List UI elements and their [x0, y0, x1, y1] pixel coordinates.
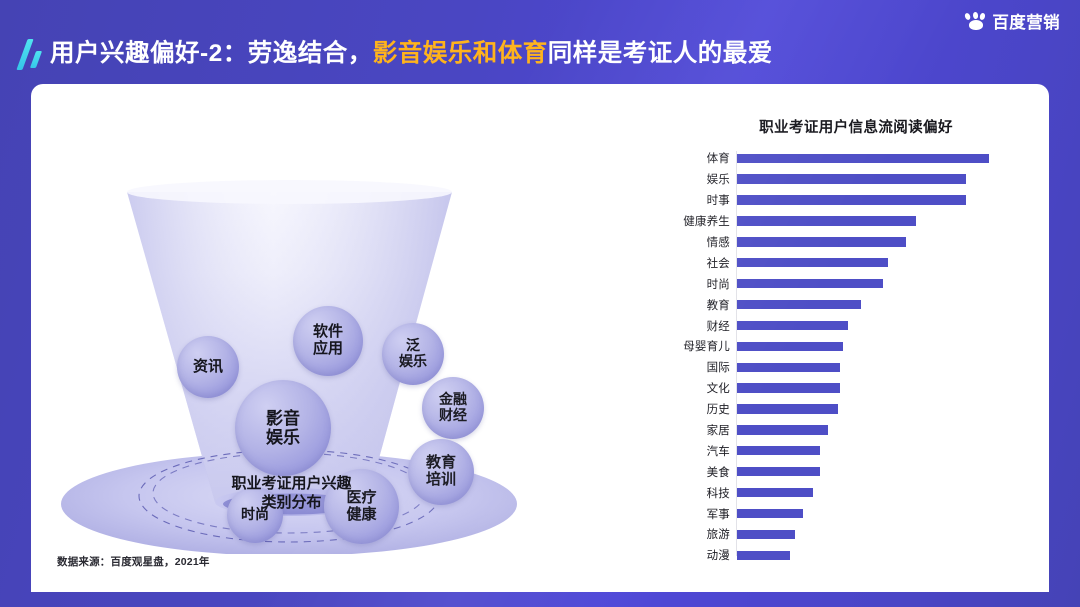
- interest-bubble: 金融 财经: [422, 377, 484, 439]
- bar-row: 时事: [631, 190, 1041, 211]
- bar-row: 情感: [631, 232, 1041, 253]
- bar: [737, 237, 906, 246]
- bar-row: 时尚: [631, 273, 1041, 294]
- bar-category-label: 财经: [631, 318, 730, 334]
- bar-row: 财经: [631, 315, 1041, 336]
- interest-bubble: 影音 娱乐: [235, 380, 331, 476]
- bar-category-label: 时尚: [631, 276, 730, 292]
- bar-track: [737, 440, 1041, 461]
- bar-track: [737, 524, 1041, 545]
- source-note: 数据来源：百度观星盘，2021年: [57, 554, 210, 569]
- bar: [737, 174, 966, 183]
- bar-category-label: 体育: [631, 150, 730, 166]
- bar: [737, 488, 813, 497]
- page-title-highlight: 影音娱乐和体育: [373, 40, 548, 67]
- bar-category-label: 历史: [631, 401, 730, 417]
- bar-row: 文化: [631, 378, 1041, 399]
- bar-category-label: 军事: [631, 506, 730, 522]
- bar-category-label: 时事: [631, 192, 730, 208]
- bar: [737, 551, 790, 560]
- page-title-part-1: 用户兴趣偏好-2：劳逸结合，: [50, 40, 373, 67]
- bar: [737, 195, 966, 204]
- bar-category-label: 汽车: [631, 443, 730, 459]
- bar: [737, 509, 803, 518]
- double-slash-accent-icon: [12, 37, 50, 71]
- slide-canvas: 百度营销 用户兴趣偏好-2：劳逸结合，影音娱乐和体育同样是考证人的最爱: [0, 0, 1080, 607]
- bar-category-label: 美食: [631, 464, 730, 480]
- bar-track: [737, 378, 1041, 399]
- bar-row: 科技: [631, 482, 1041, 503]
- bar: [737, 530, 795, 539]
- bar: [737, 216, 916, 225]
- content-card: 资讯软件 应用泛 娱乐金融 财经影音 娱乐教育 培训医疗 健康时尚 职业考证用户…: [31, 84, 1049, 592]
- interest-bubble: 泛 娱乐: [382, 323, 444, 385]
- bar-row: 娱乐: [631, 169, 1041, 190]
- bar: [737, 279, 883, 288]
- bar-row: 体育: [631, 148, 1041, 169]
- bar: [737, 467, 820, 476]
- bar-row: 历史: [631, 399, 1041, 420]
- bar-track: [737, 399, 1041, 420]
- page-title-part-2: 同样是考证人的最爱: [548, 40, 773, 67]
- bar: [737, 363, 840, 372]
- bar: [737, 383, 840, 392]
- bar-track: [737, 420, 1041, 441]
- bar-track: [737, 336, 1041, 357]
- bar-row: 国际: [631, 357, 1041, 378]
- bar-row: 教育: [631, 294, 1041, 315]
- bar-row: 社会: [631, 252, 1041, 273]
- bar-category-label: 母婴育儿: [631, 338, 730, 354]
- bar-track: [737, 482, 1041, 503]
- bar-track: [737, 357, 1041, 378]
- bar-category-label: 家居: [631, 422, 730, 438]
- bar-track: [737, 294, 1041, 315]
- brand-logo: 百度营销: [965, 9, 1060, 33]
- bar-category-label: 教育: [631, 297, 730, 313]
- bar-track: [737, 190, 1041, 211]
- bar: [737, 321, 848, 330]
- funnel-top-rim: [127, 180, 452, 204]
- bar-category-label: 文化: [631, 380, 730, 396]
- baidu-paw-icon: [965, 12, 986, 31]
- brand-name: 百度营销: [992, 9, 1060, 33]
- bar-row: 汽车: [631, 440, 1041, 461]
- interest-funnel-diagram: 资讯软件 应用泛 娱乐金融 财经影音 娱乐教育 培训医疗 健康时尚 职业考证用户…: [37, 84, 637, 554]
- bar-row: 家居: [631, 420, 1041, 441]
- bar: [737, 154, 989, 163]
- bar-row: 健康养生: [631, 211, 1041, 232]
- bar-category-label: 健康养生: [631, 213, 730, 229]
- bar-category-label: 动漫: [631, 547, 730, 563]
- bar-list: 体育娱乐时事健康养生情感社会时尚教育财经母婴育儿国际文化历史家居汽车美食科技军事…: [631, 148, 1041, 566]
- bar-category-label: 科技: [631, 485, 730, 501]
- bar-category-label: 社会: [631, 255, 730, 271]
- bar: [737, 446, 820, 455]
- interest-bubble: 资讯: [177, 336, 239, 398]
- bar-track: [737, 148, 1041, 169]
- bar-track: [737, 273, 1041, 294]
- bar-track: [737, 169, 1041, 190]
- bar-row: 美食: [631, 461, 1041, 482]
- slide-header: 用户兴趣偏好-2：劳逸结合，影音娱乐和体育同样是考证人的最爱: [0, 33, 773, 75]
- bar-row: 军事: [631, 503, 1041, 524]
- bar-category-label: 情感: [631, 234, 730, 250]
- bar-category-label: 国际: [631, 359, 730, 375]
- page-title: 用户兴趣偏好-2：劳逸结合，影音娱乐和体育同样是考证人的最爱: [50, 42, 773, 67]
- bar-track: [737, 232, 1041, 253]
- bar: [737, 342, 843, 351]
- bar-track: [737, 252, 1041, 273]
- bar: [737, 300, 861, 309]
- reading-preference-chart: 职业考证用户信息流阅读偏好 体育娱乐时事健康养生情感社会时尚教育财经母婴育儿国际…: [631, 106, 1041, 566]
- interest-bubble: 教育 培训: [408, 439, 474, 505]
- bar-track: [737, 461, 1041, 482]
- funnel-base-label: 职业考证用户兴趣 类别分布: [189, 474, 394, 512]
- bar-track: [737, 211, 1041, 232]
- bar-category-label: 旅游: [631, 526, 730, 542]
- bar-track: [737, 503, 1041, 524]
- bar-row: 动漫: [631, 545, 1041, 566]
- bar: [737, 404, 838, 413]
- bar: [737, 258, 888, 267]
- chart-plot-area: 体育娱乐时事健康养生情感社会时尚教育财经母婴育儿国际文化历史家居汽车美食科技军事…: [631, 148, 1041, 560]
- bar-row: 母婴育儿: [631, 336, 1041, 357]
- bar-row: 旅游: [631, 524, 1041, 545]
- bar: [737, 425, 828, 434]
- bar-track: [737, 315, 1041, 336]
- chart-title: 职业考证用户信息流阅读偏好: [691, 116, 1021, 137]
- interest-bubble: 软件 应用: [293, 306, 363, 376]
- bar-track: [737, 545, 1041, 566]
- bar-category-label: 娱乐: [631, 171, 730, 187]
